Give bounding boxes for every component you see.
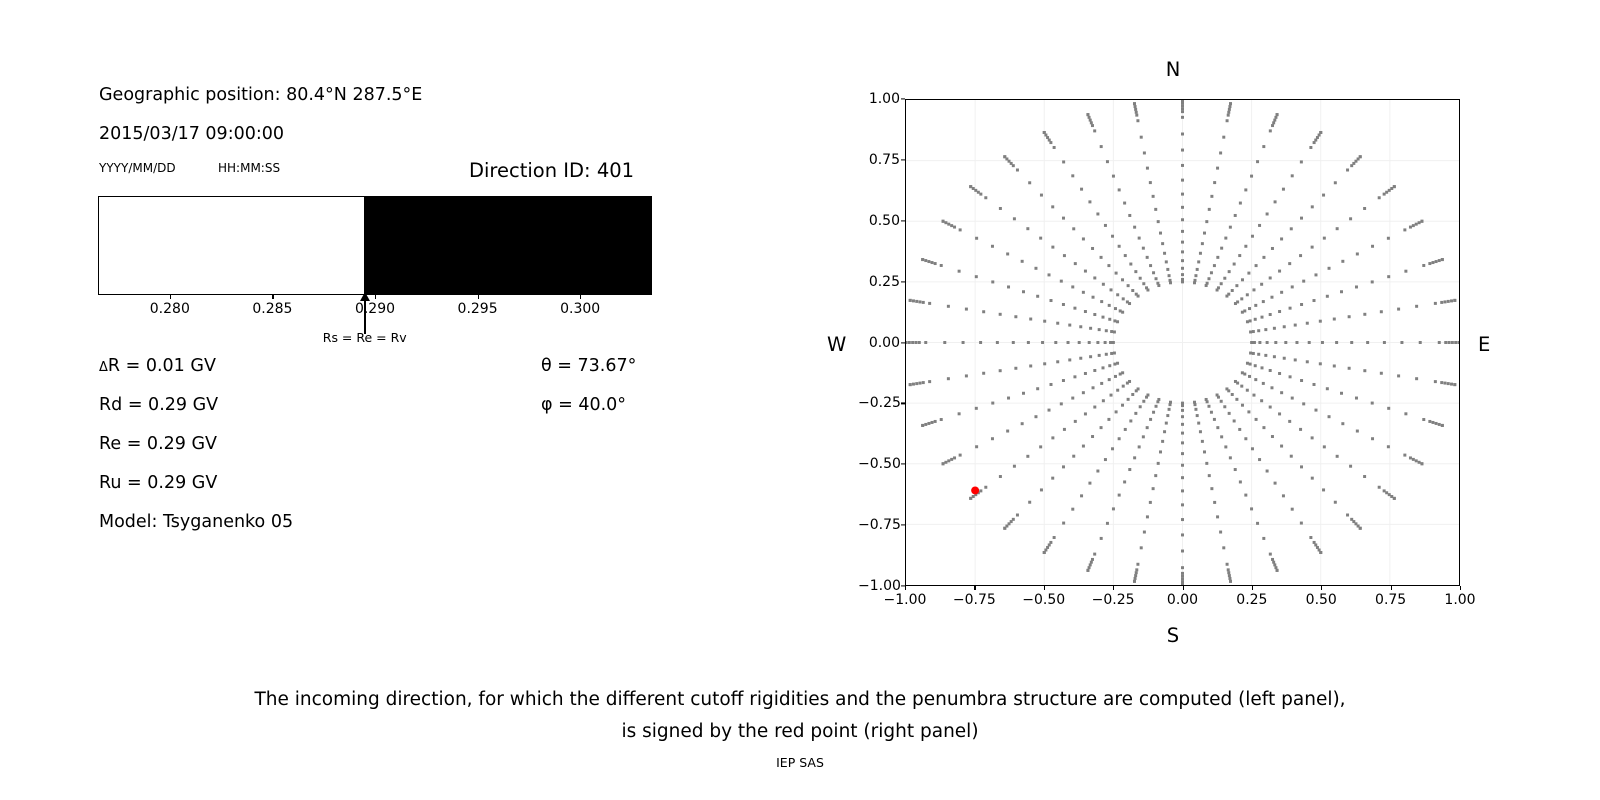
penumbra-tick-label: 0.280 [150, 301, 190, 317]
y-tick-label: 0.00 [858, 335, 900, 351]
date-format-hint: YYYY/MM/DD [99, 161, 176, 175]
x-tick-mark [1391, 586, 1392, 590]
grid-lines [906, 100, 1459, 585]
penumbra-bar [98, 196, 652, 295]
right-panel: N S W E −1.00−0.75−0.50−0.250.000.250.50… [800, 0, 1600, 660]
param-rd: Rd = 0.29 GV [99, 395, 218, 415]
caption-line-2: is signed by the red point (right panel) [0, 716, 1600, 748]
penumbra-tick-mark [272, 294, 273, 299]
figure-caption: The incoming direction, for which the di… [0, 684, 1600, 748]
y-tick-label: −0.50 [858, 456, 900, 472]
selected-direction-point[interactable] [971, 486, 979, 494]
penumbra-tick-label: 0.295 [458, 301, 498, 317]
x-tick-mark [1183, 586, 1184, 590]
x-tick-label: 0.00 [1167, 592, 1198, 608]
param-ru: Ru = 0.29 GV [99, 473, 217, 493]
penumbra-tick-mark [170, 294, 171, 299]
x-tick-mark [1044, 586, 1045, 590]
y-tick-label: 0.25 [858, 274, 900, 290]
left-panel: Geographic position: 80.4°N 287.5°E 2015… [0, 0, 760, 620]
geographic-position-text: Geographic position: 80.4°N 287.5°E [99, 85, 422, 105]
scatter-svg [906, 100, 1459, 585]
penumbra-tick-mark [478, 294, 479, 299]
x-tick-label: −0.25 [1092, 592, 1135, 608]
y-tick-label: 0.75 [858, 152, 900, 168]
x-tick-label: −1.00 [884, 592, 927, 608]
penumbra-tick-mark [375, 294, 376, 299]
x-tick-mark [1113, 586, 1114, 590]
param-phi: φ = 40.0° [541, 395, 626, 415]
y-tick-label: 1.00 [858, 91, 900, 107]
y-tick-label: −0.75 [858, 517, 900, 533]
x-tick-label: 0.25 [1236, 592, 1267, 608]
y-tick-label: 0.50 [858, 213, 900, 229]
caption-line-1: The incoming direction, for which the di… [0, 684, 1600, 716]
direction-id-label: Direction ID: 401 [469, 159, 634, 182]
penumbra-tick-label: 0.290 [355, 301, 395, 317]
compass-label-west: W [827, 333, 846, 356]
footer-credit: IEP SAS [0, 755, 1600, 770]
param-re: Re = 0.29 GV [99, 434, 217, 454]
x-tick-mark [1252, 586, 1253, 590]
penumbra-tick-mark [580, 294, 581, 299]
penumbra-tick-label: 0.285 [252, 301, 292, 317]
penumbra-allowed-region [99, 197, 366, 294]
time-format-hint: HH:MM:SS [218, 161, 280, 175]
datetime-text: 2015/03/17 09:00:00 [99, 124, 284, 144]
y-tick-label: −0.25 [858, 395, 900, 411]
delta-symbol: Δ [99, 360, 108, 375]
direction-scatter-plot[interactable] [905, 99, 1460, 586]
rigidity-marker-label: Rs = Re = Rv [323, 330, 407, 345]
compass-label-north: N [1166, 58, 1181, 81]
x-tick-label: 1.00 [1444, 592, 1475, 608]
compass-label-south: S [1167, 624, 1179, 647]
penumbra-bar-container [98, 196, 652, 295]
x-tick-mark [1460, 586, 1461, 590]
rigidity-marker-arrow-head [360, 292, 370, 301]
x-tick-label: −0.75 [953, 592, 996, 608]
x-tick-label: −0.50 [1022, 592, 1065, 608]
param-theta: θ = 73.67° [541, 356, 636, 376]
param-delta-r: ΔR = 0.01 GV [99, 356, 216, 376]
x-tick-mark [1321, 586, 1322, 590]
penumbra-forbidden-region [364, 197, 651, 294]
param-model: Model: Tsyganenko 05 [99, 512, 293, 532]
x-tick-mark [974, 586, 975, 590]
penumbra-tick-label: 0.300 [560, 301, 600, 317]
param-delta-r-text: R = 0.01 GV [108, 356, 216, 376]
x-tick-label: 0.50 [1306, 592, 1337, 608]
compass-label-east: E [1478, 333, 1490, 356]
x-tick-label: 0.75 [1375, 592, 1406, 608]
x-tick-mark [905, 586, 906, 590]
